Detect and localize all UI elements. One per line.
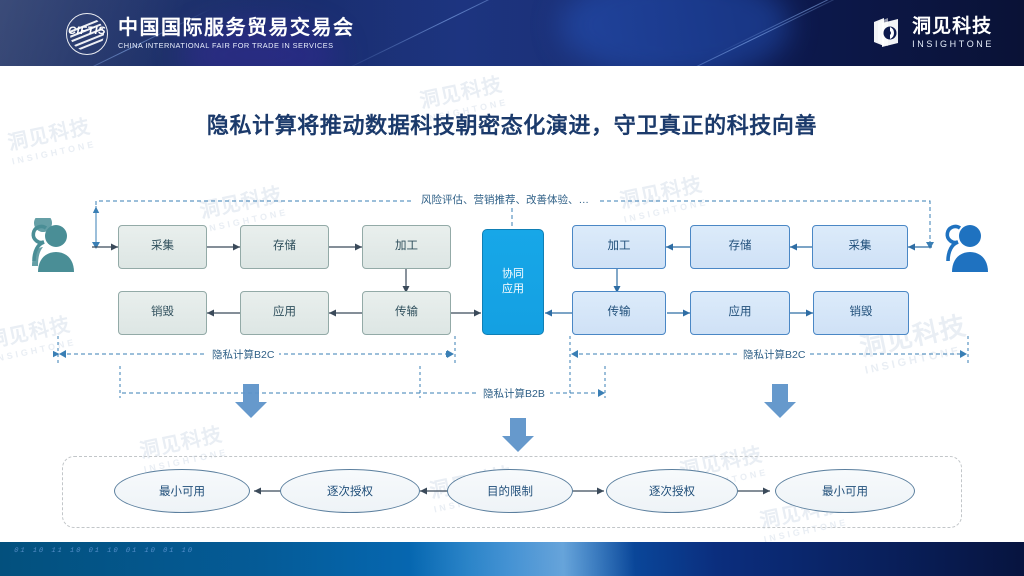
insightone-logo: 洞见科技 INSIGHTONE: [869, 16, 994, 50]
insightone-cube-icon: [869, 16, 903, 50]
diagram-canvas: 洞见科技INSIGHTONE 洞见科技INSIGHTONE 洞见科技INSIGH…: [0, 66, 1024, 542]
left-box-jiagong[interactable]: 加工: [362, 225, 451, 269]
principle-ellipse-1[interactable]: 最小可用: [114, 469, 250, 513]
insightone-en-name: INSIGHTONE: [912, 39, 994, 49]
footer-code-text: 01 10 11 10 01 10 01 10 01 10: [13, 547, 195, 555]
footer-banner: 01 10 11 10 01 10 01 10 01 10: [0, 542, 1024, 576]
feedback-label: 风险评估、营销推荐、改善体验、…: [416, 192, 594, 207]
span-label-b2b: 隐私计算B2B: [478, 386, 550, 401]
center-box-line1: 协同: [502, 267, 524, 282]
right-box-xiaohui[interactable]: 销毁: [813, 291, 909, 335]
principle-ellipse-5[interactable]: 最小可用: [775, 469, 915, 513]
header-banner: CIFTIS 中国国际服务贸易交易会 CHINA INTERNATIONAL F…: [0, 0, 1024, 66]
right-box-jiagong[interactable]: 加工: [572, 225, 666, 269]
left-box-xiaohui[interactable]: 销毁: [118, 291, 207, 335]
left-box-caiji[interactable]: 采集: [118, 225, 207, 269]
right-box-yingyong[interactable]: 应用: [690, 291, 790, 335]
principle-ellipse-2[interactable]: 逐次授权: [280, 469, 420, 513]
slide-root: CIFTIS 中国国际服务贸易交易会 CHINA INTERNATIONAL F…: [0, 0, 1024, 576]
header-streak: [333, 0, 567, 66]
left-box-chuanshu[interactable]: 传输: [362, 291, 451, 335]
ciftis-cn-name: 中国国际服务贸易交易会: [118, 18, 355, 39]
insightone-cn-name: 洞见科技: [912, 17, 994, 36]
center-box-line2: 应用: [502, 282, 524, 297]
ciftis-en-name: CHINA INTERNATIONAL FAIR FOR TRADE IN SE…: [118, 41, 355, 50]
center-box-collaborative-app[interactable]: 协同 应用: [482, 229, 544, 335]
ciftis-logo: CIFTIS 中国国际服务贸易交易会 CHINA INTERNATIONAL F…: [66, 13, 355, 55]
principle-ellipse-3[interactable]: 目的限制: [447, 469, 573, 513]
principle-ellipse-4[interactable]: 逐次授权: [606, 469, 738, 513]
right-box-caiji[interactable]: 采集: [812, 225, 908, 269]
right-box-cunchu[interactable]: 存储: [690, 225, 790, 269]
ciftis-globe-icon: CIFTIS: [66, 13, 108, 55]
right-box-chuanshu[interactable]: 传输: [572, 291, 666, 335]
span-label-right-b2c: 隐私计算B2C: [738, 347, 810, 362]
left-box-yingyong[interactable]: 应用: [240, 291, 329, 335]
ciftis-acronym: CIFTIS: [66, 25, 108, 37]
left-box-cunchu[interactable]: 存储: [240, 225, 329, 269]
header-glow: [560, 0, 790, 66]
span-label-left-b2c: 隐私计算B2C: [207, 347, 279, 362]
